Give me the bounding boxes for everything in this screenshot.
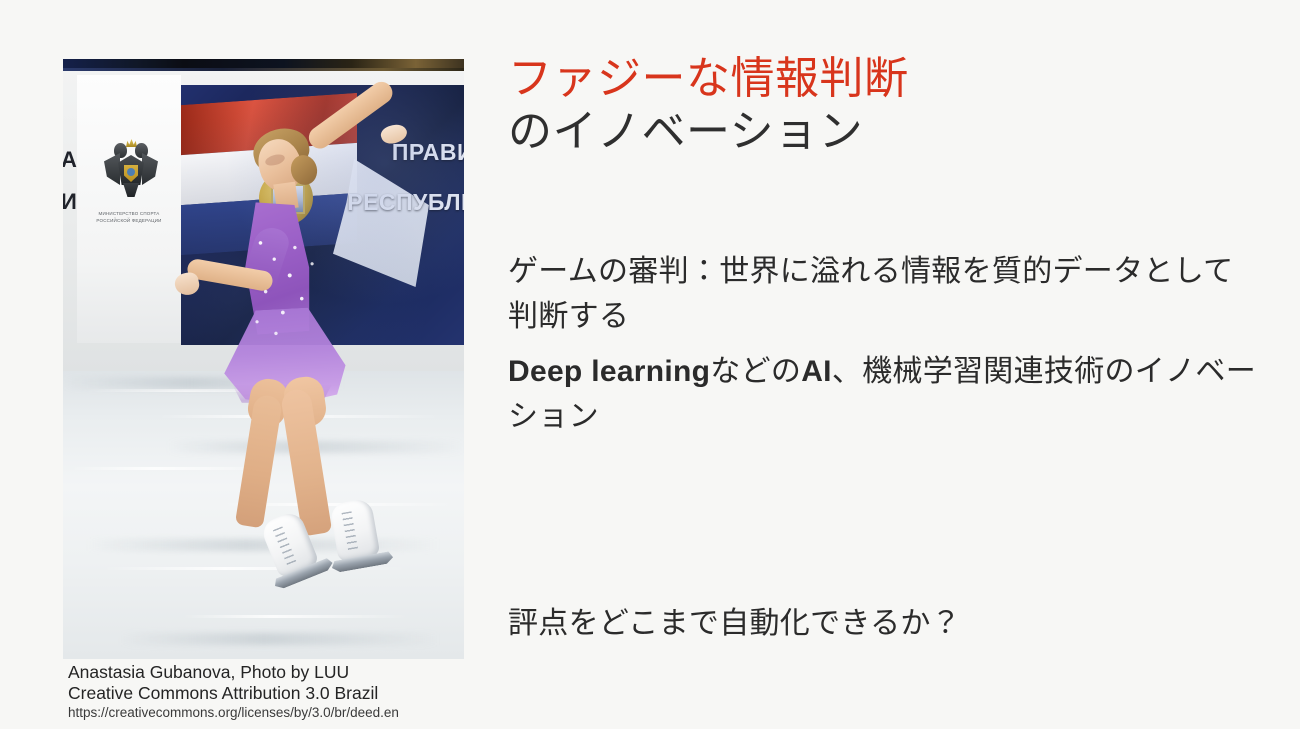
body-paragraph-2-mid: などの [710, 355, 801, 388]
body-paragraph-2-bold-1: Deep learning [508, 355, 710, 388]
body-paragraph-2: Deep learningなどのAI、機械学習関連技術のイノベーション [508, 349, 1260, 439]
title-rest-text: のイノベーション [508, 107, 863, 156]
slide-canvas: МИНИСТЕРСТВО СПОРТА РОССИЙСКОЙ ФЕДЕРАЦИИ… [0, 0, 1300, 729]
title-accent-text: ファジーな情報判断 [508, 54, 909, 103]
photo-credit-caption: Anastasia Gubanova, Photo by LUU Creativ… [68, 662, 498, 722]
body-paragraph-2-bold-2: AI [801, 355, 832, 388]
caption-license-url[interactable]: https://creativecommons.org/licenses/by/… [68, 704, 498, 722]
page-title: ファジーな情報判断のイノベーション [508, 52, 1260, 158]
caption-line-1: Anastasia Gubanova, Photo by LUU [68, 662, 498, 683]
figure-skater [63, 59, 464, 659]
slide-content-column: ファジーな情報判断のイノベーション ゲームの審判：世界に溢れる情報を質的データと… [508, 52, 1260, 158]
photo-block: МИНИСТЕРСТВО СПОРТА РОССИЙСКОЙ ФЕДЕРАЦИИ… [63, 59, 464, 659]
caption-line-2: Creative Commons Attribution 3.0 Brazil [68, 683, 498, 704]
skater-photo: МИНИСТЕРСТВО СПОРТА РОССИЙСКОЙ ФЕДЕРАЦИИ… [63, 59, 464, 659]
body-paragraph-3: 評点をどこまで自動化できるか？ [508, 601, 1260, 646]
body-paragraph-1: ゲームの審判：世界に溢れる情報を質的データとして判断する [508, 249, 1260, 339]
